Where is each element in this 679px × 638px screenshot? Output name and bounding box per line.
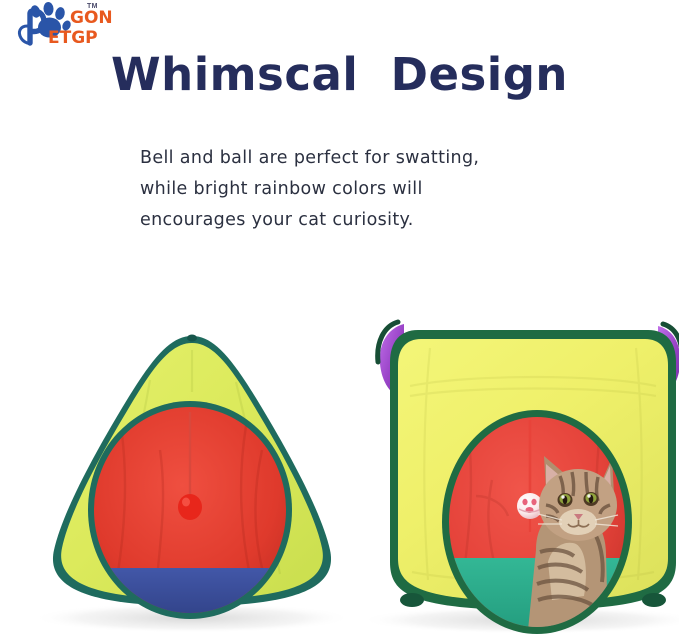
left-toy-ball <box>178 494 202 520</box>
description-line-2: while bright rainbow colors will <box>140 174 560 205</box>
brand-name-line2: ETGP <box>48 28 98 48</box>
description-block: Bell and ball are perfect for swatting, … <box>140 143 560 236</box>
product-image-left[interactable] <box>32 335 352 634</box>
brand-p-letter <box>19 11 44 44</box>
right-tent-foot-right <box>642 593 666 607</box>
kitten-eye-highlight-left <box>561 495 564 498</box>
brand-name-line1: GON <box>70 8 113 28</box>
left-toy-ball-highlight <box>182 498 190 507</box>
description-line-1: Bell and ball are perfect for swatting, <box>140 143 560 174</box>
product-image-right[interactable] <box>360 322 679 638</box>
brand-logo-graphic: GON ETGP <box>8 2 120 50</box>
page-title: Whimscal Design <box>0 48 679 101</box>
brand-logo[interactable]: GON ETGP TM <box>8 2 120 50</box>
left-tent-apex-knot <box>187 335 197 342</box>
kitten-eye-highlight-right <box>587 494 590 497</box>
right-tent-foot-left <box>400 593 424 607</box>
product-gallery <box>0 300 679 638</box>
description-line-3: encourages your cat curiosity. <box>140 205 560 236</box>
trademark-symbol: TM <box>87 3 98 10</box>
